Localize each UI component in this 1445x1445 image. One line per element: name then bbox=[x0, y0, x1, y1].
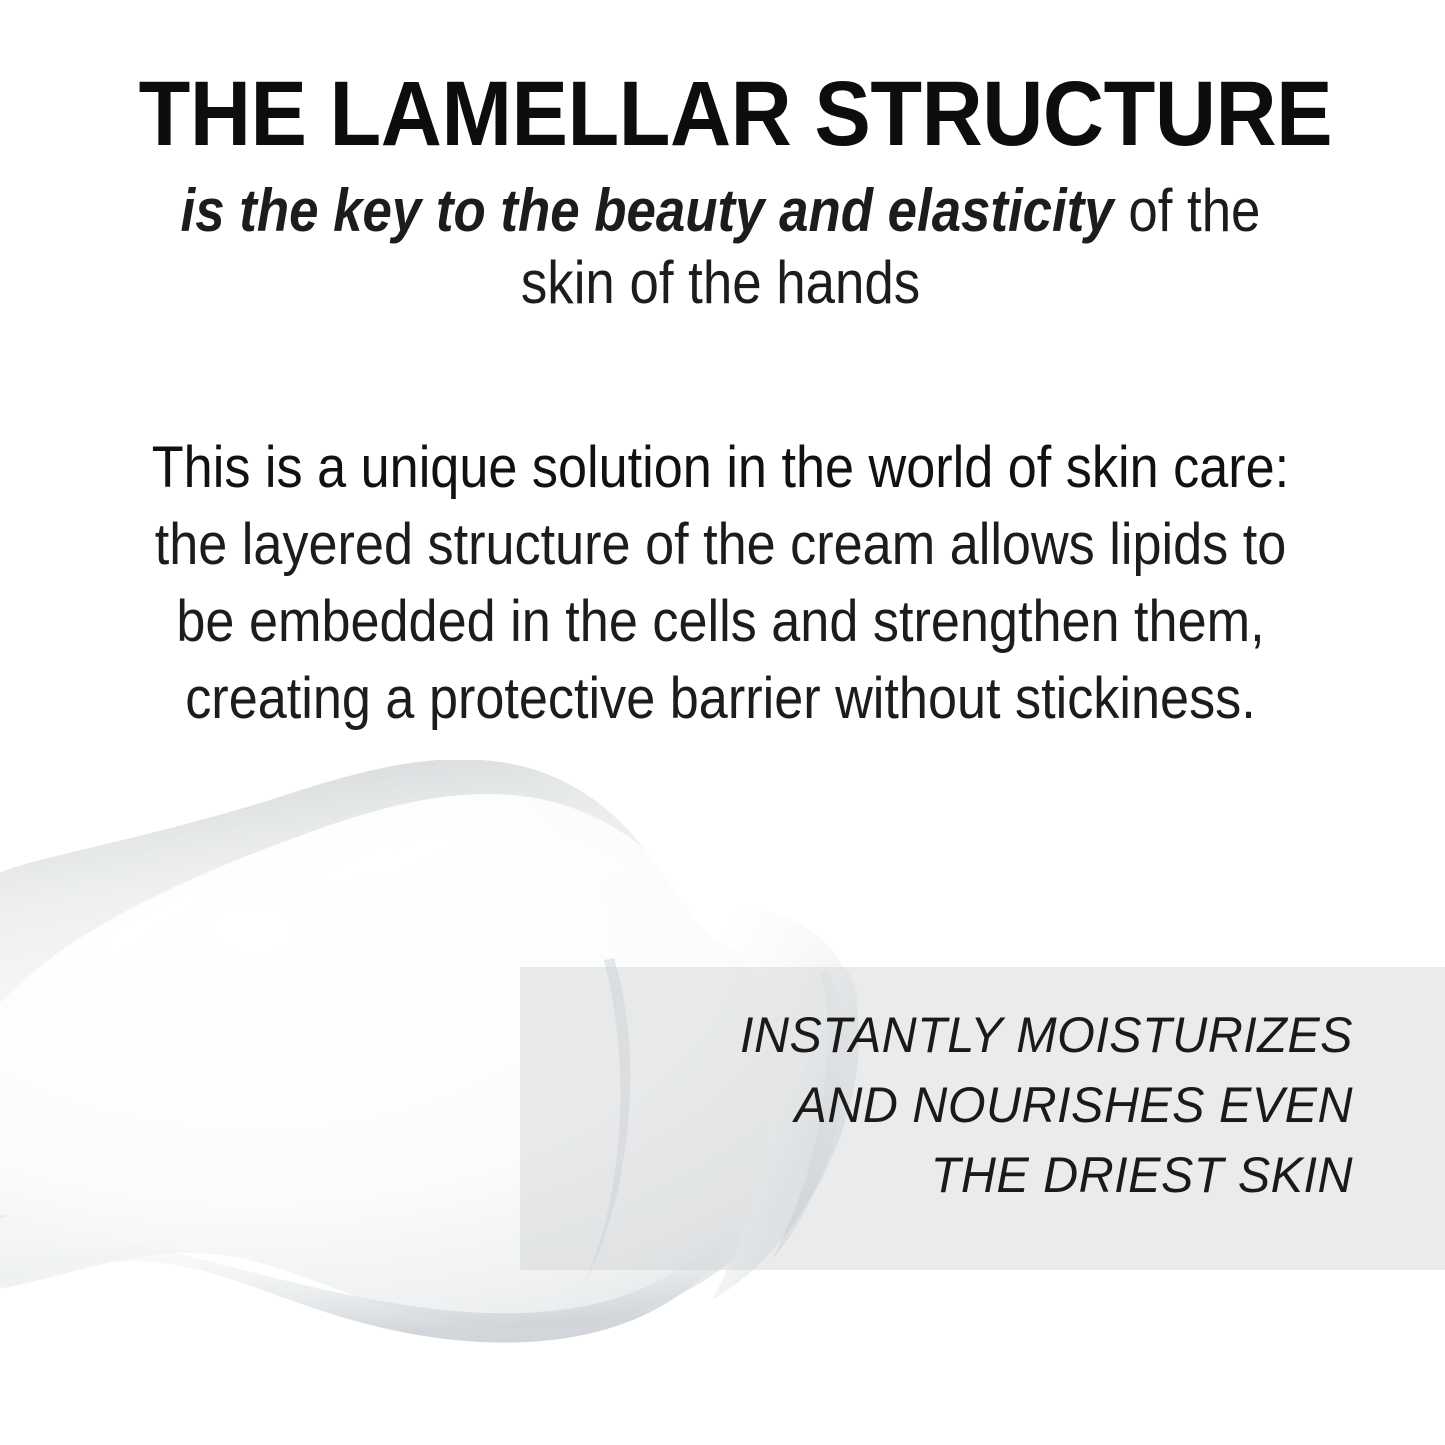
product-infographic-page: THE LAMELLAR STRUCTURE is the key to the… bbox=[0, 0, 1445, 1445]
body-rest-sentence: the layered structure of the cream allow… bbox=[155, 512, 1287, 731]
body-paragraph: This is a unique solution in the world o… bbox=[151, 319, 1290, 738]
caption-line-1: INSTANTLY MOISTURIZES bbox=[616, 1000, 1353, 1070]
subtitle-emphasis: is the key to the beauty and elasticity bbox=[181, 177, 1114, 244]
text-zone: THE LAMELLAR STRUCTURE is the key to the… bbox=[88, 0, 1353, 737]
caption-line-2: AND NOURISHES EVEN bbox=[616, 1070, 1353, 1140]
caption-line-3: THE DRIEST SKIN bbox=[616, 1140, 1353, 1210]
subtitle: is the key to the beauty and elasticity … bbox=[164, 157, 1277, 319]
page-title: THE LAMELLAR STRUCTURE bbox=[139, 0, 1303, 157]
body-lead-sentence: This is a unique solution in the world o… bbox=[152, 435, 1289, 500]
benefit-caption: INSTANTLY MOISTURIZES AND NOURISHES EVEN… bbox=[616, 1000, 1353, 1210]
